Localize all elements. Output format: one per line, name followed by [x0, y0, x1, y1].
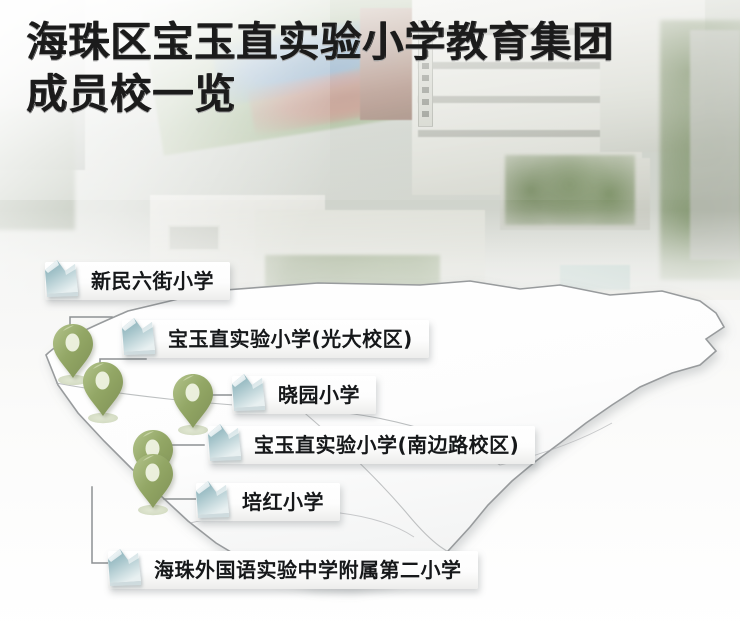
school-name-text: 海珠外国语实验中学附属第二小学 — [154, 560, 462, 580]
ribbon-fold-icon — [208, 426, 248, 464]
school-label-peihong[interactable]: 培红小学 — [196, 483, 340, 521]
ribbon-fold-icon — [122, 320, 162, 358]
school-name-text: 新民六街小学 — [91, 271, 214, 291]
ribbon-fold-icon — [108, 551, 148, 589]
school-name-text: 晓园小学 — [278, 385, 360, 405]
map-pin-peihong[interactable] — [130, 452, 176, 516]
map-pin-baoyuzhi-guangda[interactable] — [80, 360, 126, 424]
ribbon-fold-icon — [232, 376, 272, 414]
school-label-haizhu-waiguoyu-fushu-2[interactable]: 海珠外国语实验中学附属第二小学 — [108, 551, 478, 589]
school-name-text: 培红小学 — [242, 492, 324, 512]
school-label-xiaoyuan[interactable]: 晓园小学 — [232, 376, 376, 414]
school-label-baoyuzhi-guangda[interactable]: 宝玉直实验小学(光大校区) — [122, 320, 429, 358]
school-label-baoyuzhi-nanbianlu[interactable]: 宝玉直实验小学(南边路校区) — [208, 426, 535, 464]
poster-root: 海珠区宝玉直实验小学教育集团 成员校一览 新民六街小学 — [0, 0, 740, 635]
ribbon-fold-icon — [196, 483, 236, 521]
school-name-text: 宝玉直实验小学(光大校区) — [168, 329, 413, 349]
school-name-text: 宝玉直实验小学(南边路校区) — [254, 435, 519, 455]
ribbon-fold-icon — [45, 262, 85, 300]
school-label-xinmin-liujie[interactable]: 新民六街小学 — [45, 262, 230, 300]
page-title: 海珠区宝玉直实验小学教育集团 成员校一览 — [26, 16, 716, 120]
